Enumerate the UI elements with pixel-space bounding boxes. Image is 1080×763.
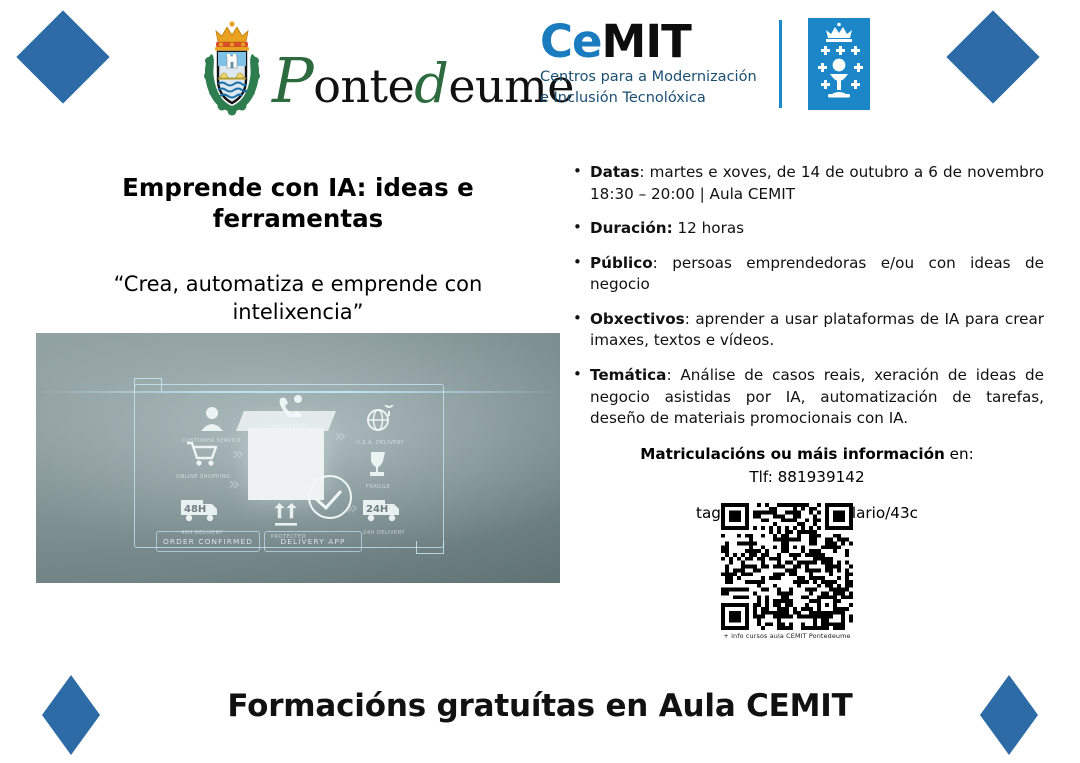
page-title: Emprende con IA: ideas e ferramentas xyxy=(76,172,520,235)
detail-value-datas: martes e xoves, de 14 de outubro a 6 de … xyxy=(590,163,1044,203)
wordmark-letter-p: P xyxy=(272,44,313,117)
truck-24h-icon: 24H 24H DELIVERY xyxy=(362,497,406,536)
wordmark-letter-d: d xyxy=(414,52,448,115)
detail-label-duracion: Duración: xyxy=(590,219,673,237)
chevron-decor-icon-3: » xyxy=(334,425,346,447)
order-confirmed-tab: ORDER CONFIRMED xyxy=(156,531,260,552)
detail-separator: : xyxy=(666,366,680,384)
course-intro-column: Emprende con IA: ideas e ferramentas “Cr… xyxy=(36,160,560,327)
wordmark-letters-onte: onte xyxy=(313,59,414,113)
enrollment-block: Matriculacións ou máis información en: T… xyxy=(570,443,1044,489)
cemit-brand-ce: Ce xyxy=(540,15,602,68)
svg-text:48H: 48H xyxy=(184,504,206,515)
enrollment-phone: Tlf: 881939142 xyxy=(570,466,1044,489)
qr-code-caption: + info cursos aula CEMIT Pontedeume xyxy=(721,632,853,640)
pontedeume-wordmark: Pontedeume xyxy=(272,24,574,112)
customer-service-icon: CUSTOMER SERVICE xyxy=(182,405,241,444)
cemit-logo: CeMIT Centros para a Modernización e Inc… xyxy=(540,18,870,110)
cemit-brand: CeMIT xyxy=(540,19,757,65)
cemit-text-block: CeMIT Centros para a Modernización e Inc… xyxy=(540,19,779,110)
enrollment-headline: Matriculacións ou máis información en: xyxy=(570,443,1044,466)
list-item: Obxectivos: aprender a usar plataformas … xyxy=(570,309,1044,352)
enrollment-headline-tail: en: xyxy=(945,445,974,463)
order-confirmed-label: ORDER CONFIRMED xyxy=(163,537,253,546)
shopping-cart-caption: ONLINE SHOPPING xyxy=(176,475,230,480)
pontedeume-coat-of-arms-icon xyxy=(196,16,268,120)
truck-24h-caption: 24H DELIVERY xyxy=(362,531,406,536)
phone-support-caption: ASSISTANCE xyxy=(272,425,308,430)
detail-label-obxectivos: Obxectivos xyxy=(590,310,685,328)
course-slogan: “Crea, automatiza e emprende con intelix… xyxy=(64,271,532,327)
detail-label-publico: Público xyxy=(590,254,653,272)
detail-separator: : xyxy=(685,310,696,328)
footer-title: Formacións gratuítas en Aula CEMIT xyxy=(0,688,1080,724)
pontedeume-logo: Pontedeume xyxy=(196,16,574,120)
xunta-de-galicia-emblem-icon xyxy=(808,18,870,110)
phone-support-icon: ASSISTANCE xyxy=(272,395,308,430)
list-item: Duración: 12 horas xyxy=(570,218,1044,240)
fragile-icon: FRAGILE xyxy=(366,451,390,490)
chevron-decor-icon-1: » xyxy=(232,443,244,465)
delivery-app-label: DELIVERY APP xyxy=(280,537,345,546)
enrollment-headline-bold: Matriculacións ou máis información xyxy=(640,445,945,463)
cemit-brand-mit: MIT xyxy=(602,15,691,68)
list-item: Datas: martes e xoves, de 14 de outubro … xyxy=(570,162,1044,205)
fragile-caption: FRAGILE xyxy=(366,485,390,490)
hero-illustration: CUSTOMER SERVICE ASSISTANCE U.S.A. DELIV… xyxy=(36,333,560,583)
qr-code-block[interactable]: + info cursos aula CEMIT Pontedeume xyxy=(721,503,853,640)
globe-location-caption: U.S.A. DELIVERY xyxy=(356,441,404,446)
chevron-decor-icon-4: » xyxy=(346,497,358,519)
detail-label-datas: Datas xyxy=(590,163,639,181)
globe-location-icon: U.S.A. DELIVERY xyxy=(356,405,404,446)
poster-header: Pontedeume CeMIT Centros para a Moderniz… xyxy=(0,0,1080,140)
detail-separator: : xyxy=(653,254,673,272)
detail-separator: : xyxy=(639,163,649,181)
qr-code-icon[interactable] xyxy=(721,503,853,630)
detail-value-duracion: 12 horas xyxy=(678,219,745,237)
detail-label-tematica: Temática xyxy=(590,366,666,384)
shopping-cart-icon: ONLINE SHOPPING xyxy=(176,441,230,480)
list-item: Público: persoas emprendedoras e/ou con … xyxy=(570,253,1044,296)
course-details-column: Datas: martes e xoves, de 14 de outubro … xyxy=(570,162,1044,522)
cemit-logo-divider xyxy=(779,20,782,108)
list-item: Temática: Análise de casos reais, xeraci… xyxy=(570,365,1044,430)
cemit-subtitle: Centros para a Modernización e Inclusión… xyxy=(540,67,757,109)
chevron-decor-icon-2: » xyxy=(228,473,240,495)
poster-root: Pontedeume CeMIT Centros para a Moderniz… xyxy=(0,0,1080,763)
delivery-app-tab: DELIVERY APP xyxy=(264,531,362,552)
svg-text:24H: 24H xyxy=(366,504,388,515)
course-details-list: Datas: martes e xoves, de 14 de outubro … xyxy=(570,162,1044,430)
